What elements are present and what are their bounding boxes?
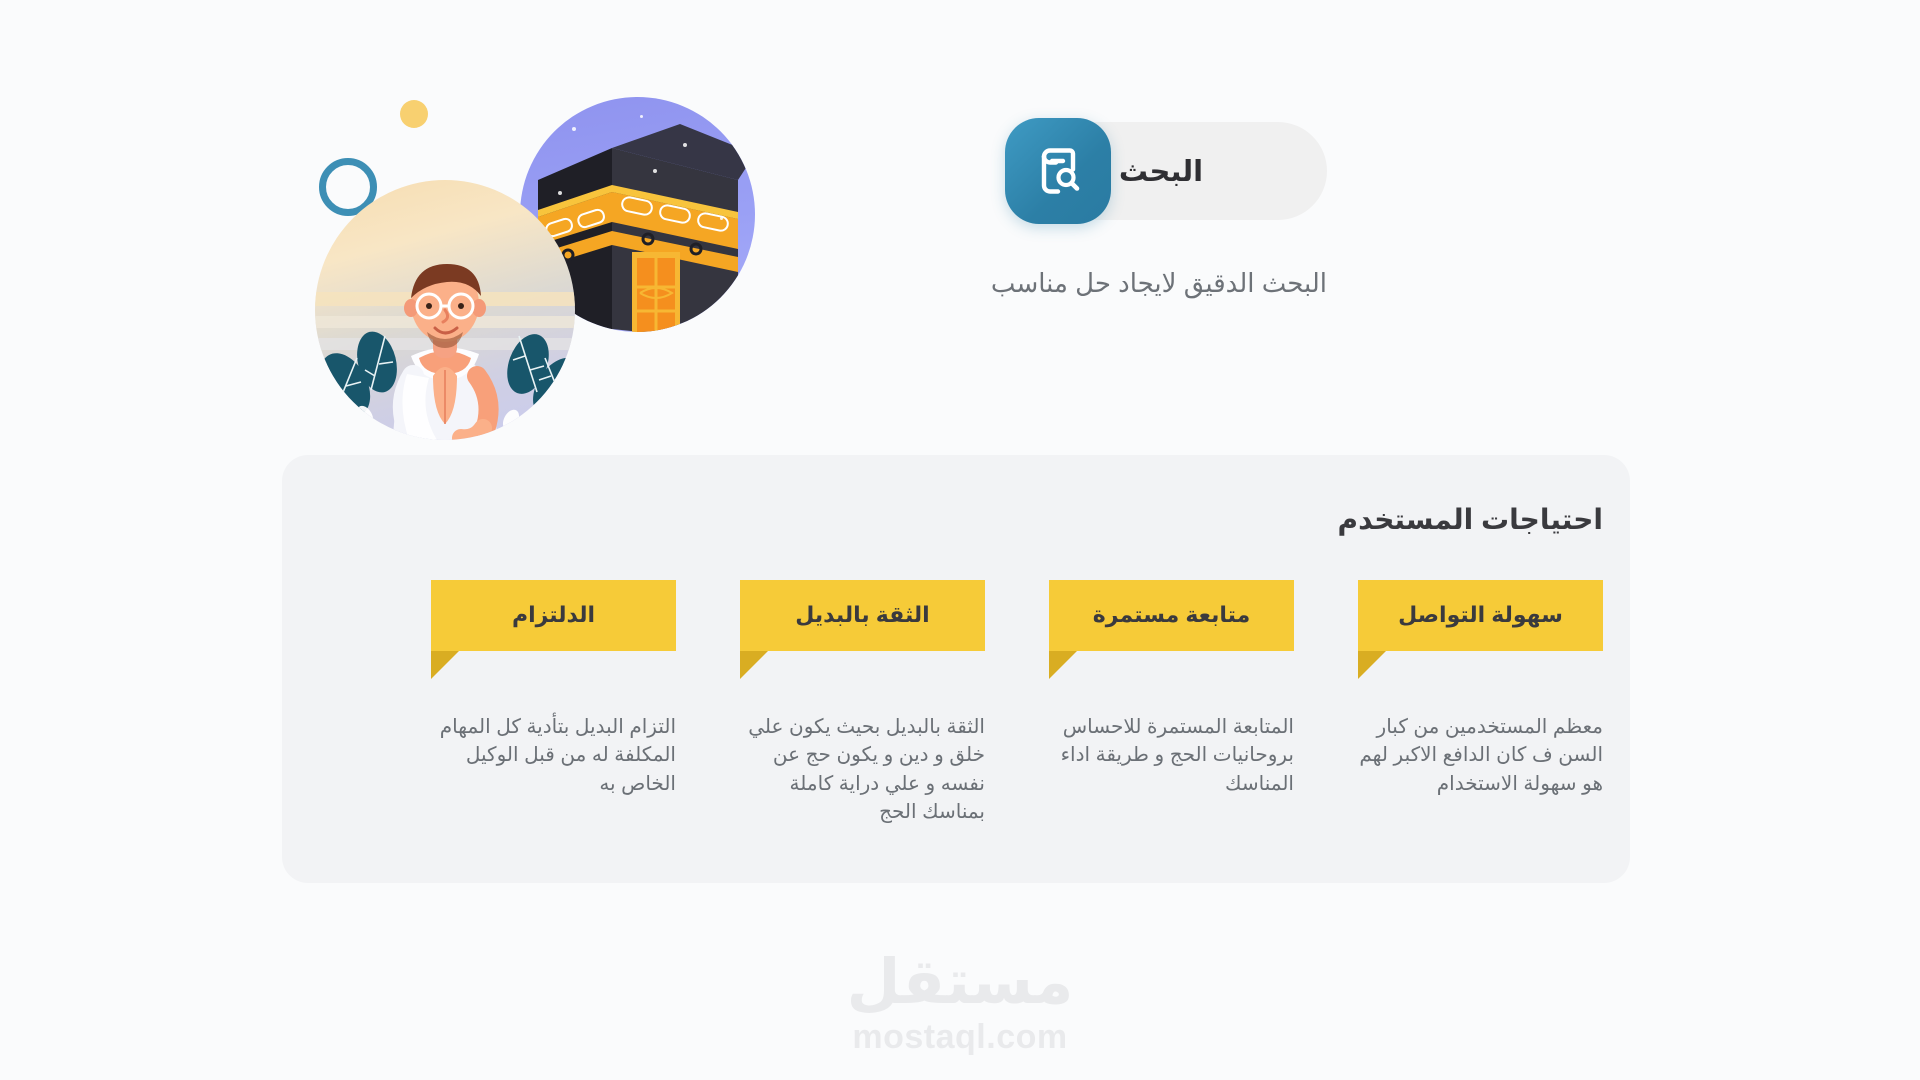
needs-cards-row: سهولة التواصل معظم المستخدمين من كبار ال…: [323, 580, 1603, 850]
need-card-title: متابعة مستمرة: [1093, 602, 1250, 630]
need-card-description: التزام البديل بتأدية كل المهام المكلفة ل…: [431, 713, 676, 798]
document-search-glyph: [1031, 144, 1085, 198]
watermark-arabic-logo: مستقل: [847, 952, 1074, 1014]
mostaql-watermark: مستقل mostaql.com: [0, 952, 1920, 1054]
ribbon-fold-corner: [740, 651, 768, 679]
need-card-title: الثقة بالبديل: [795, 602, 929, 630]
search-subtitle: البحث الدقيق لايجاد حل مناسب: [1009, 268, 1327, 299]
need-card: سهولة التواصل معظم المستخدمين من كبار ال…: [1358, 580, 1603, 850]
need-card-title: سهولة التواصل: [1398, 602, 1563, 630]
page-canvas: البحث البحث الدقيق لايجاد حل مناسب احتيا…: [0, 0, 1920, 1080]
need-card-description: الثقة بالبديل بحيث يكون علي خلق و دين و …: [740, 713, 985, 827]
pilgrim-person-circle: [315, 180, 575, 440]
search-badge[interactable]: البحث: [1009, 122, 1327, 220]
page-title: احتياجات المستخدم: [1338, 503, 1603, 536]
ribbon-fold-corner: [1049, 651, 1077, 679]
watermark-domain: mostaql.com: [852, 1020, 1067, 1054]
document-search-icon[interactable]: [1005, 118, 1111, 224]
need-card-ribbon[interactable]: الثقة بالبديل: [740, 580, 985, 651]
need-card: الثقة بالبديل الثقة بالبديل بحيث يكون عل…: [740, 580, 985, 850]
ribbon-fold-corner: [431, 651, 459, 679]
need-card-ribbon[interactable]: سهولة التواصل: [1358, 580, 1603, 651]
need-card-description: المتابعة المستمرة للاحساس بروحانيات الحج…: [1049, 713, 1294, 798]
decorative-yellow-dot: [400, 100, 428, 128]
pilgrim-svg: [315, 180, 575, 440]
need-card-title: الدلتزام: [512, 602, 595, 630]
hajj-pilgrim-kaaba-illustration: [285, 60, 805, 460]
ribbon-fold-corner: [1358, 651, 1386, 679]
need-card: متابعة مستمرة المتابعة المستمرة للاحساس …: [1049, 580, 1294, 850]
need-card-ribbon[interactable]: الدلتزام: [431, 580, 676, 651]
need-card: الدلتزام التزام البديل بتأدية كل المهام …: [431, 580, 676, 850]
need-card-description: معظم المستخدمين من كبار السن ف كان الداف…: [1358, 713, 1603, 798]
need-card-ribbon[interactable]: متابعة مستمرة: [1049, 580, 1294, 651]
